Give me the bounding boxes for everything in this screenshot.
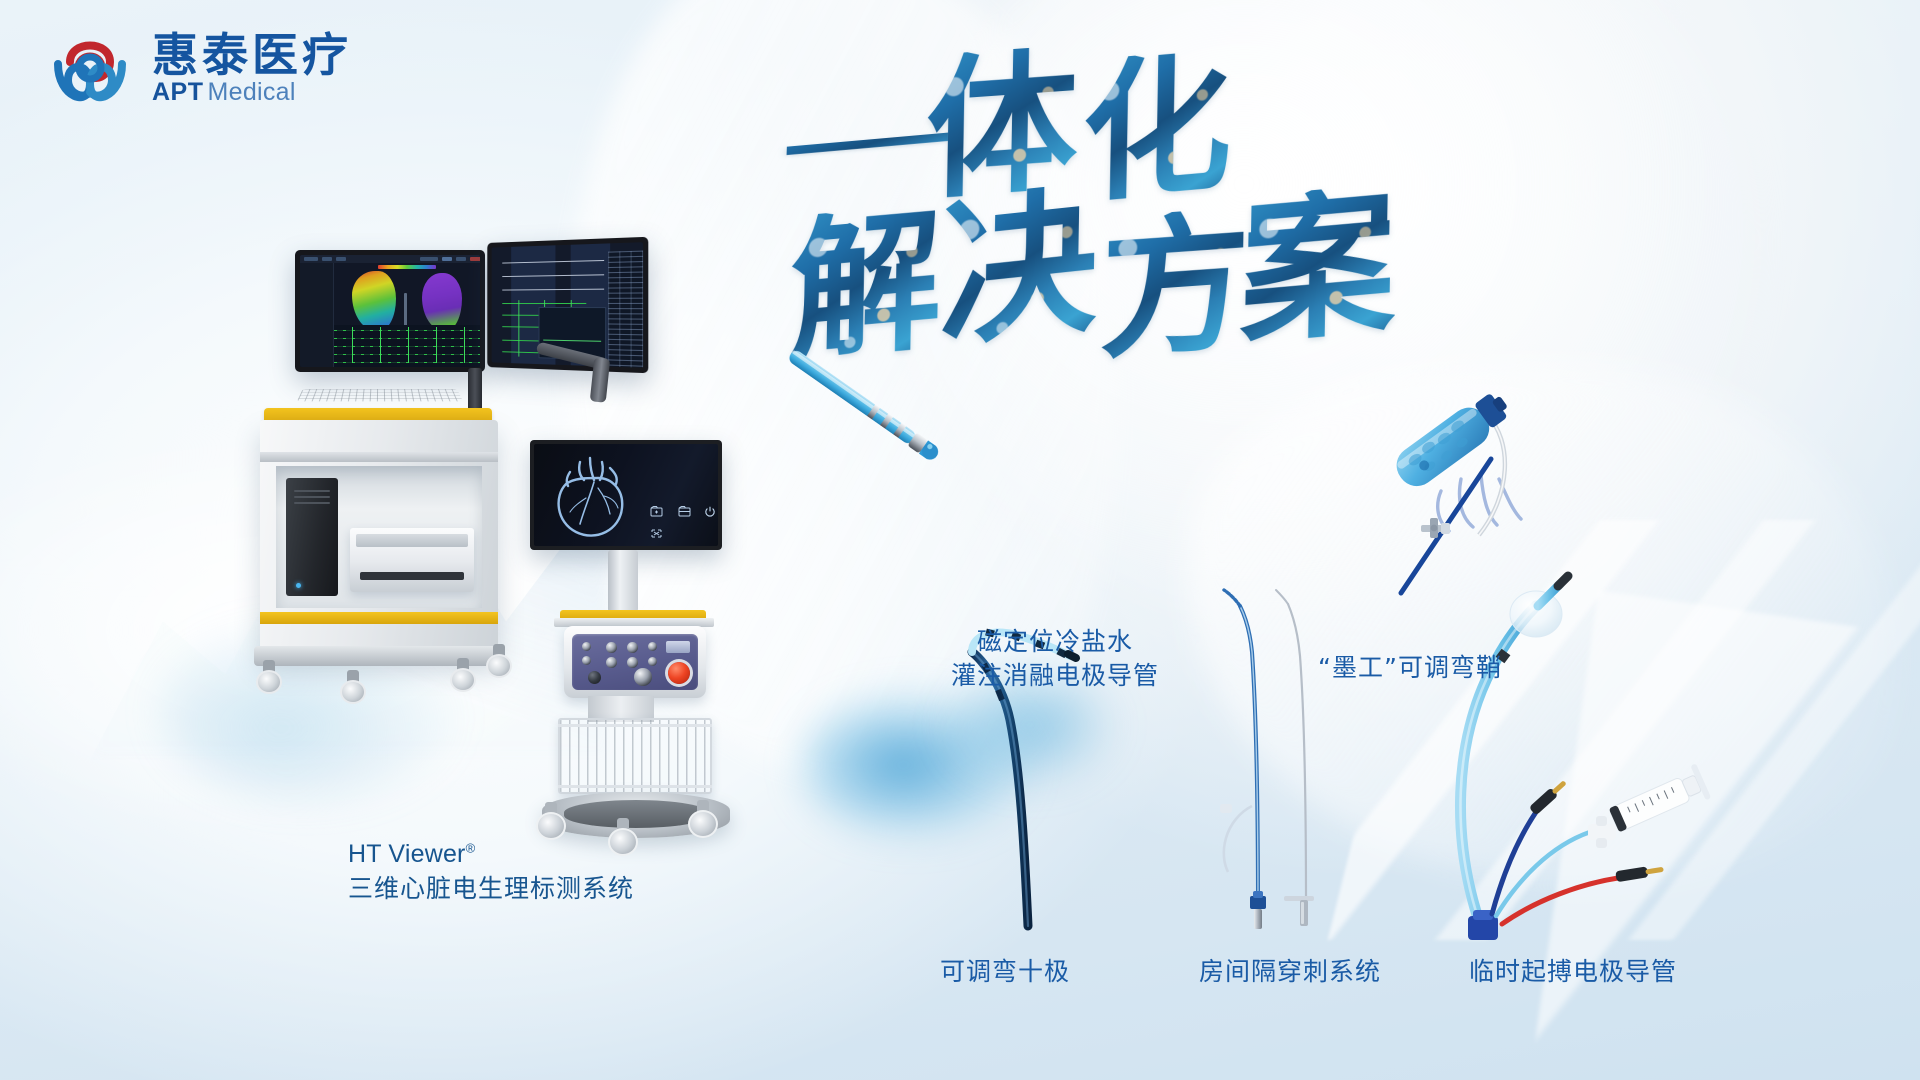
decapolar-catheter-label: 可调弯十极 xyxy=(940,955,1070,989)
cart-caster xyxy=(688,800,718,838)
open-case-icon[interactable] xyxy=(678,506,691,517)
label-line-2: 灌注消融电极导管 xyxy=(951,659,1159,693)
irrigated-ablation-catheter-image xyxy=(800,355,970,485)
heart-display-monitor xyxy=(530,440,722,550)
measurement-table xyxy=(608,251,643,368)
headline-char-3: 化 xyxy=(1081,47,1233,211)
irrigated-ablation-catheter-label: 磁定位冷盐水 灌注消融电极导管 xyxy=(951,625,1159,692)
headline-char-7: 案 xyxy=(1239,183,1397,353)
transseptal-puncture-system-label: 房间隔穿刺系统 xyxy=(1199,955,1381,989)
cart-caster xyxy=(256,660,282,694)
brand-logo: 惠泰医疗 APT Medical xyxy=(44,22,352,114)
brand-name-en-bold: APT xyxy=(152,80,204,105)
mesh-tool-icon[interactable] xyxy=(650,528,663,539)
emergency-stop-button[interactable] xyxy=(668,662,690,684)
intracardiac-trace-pane xyxy=(334,325,480,367)
headline-char-4: 解 xyxy=(789,203,943,369)
cart-caster xyxy=(486,644,512,678)
apt-medical-logo-icon xyxy=(44,22,136,114)
workstation-printer xyxy=(350,528,474,592)
accessory-basket xyxy=(558,718,712,794)
display-console-cart xyxy=(530,440,800,860)
temporary-pacing-catheter-image xyxy=(1440,540,1720,940)
headline-char-6: 方 xyxy=(1099,206,1251,367)
brand-name-en-light: Medical xyxy=(208,80,296,105)
ht-viewer-name-en: HT Viewer® xyxy=(348,838,634,872)
transseptal-puncture-system-image xyxy=(1200,560,1330,940)
temporary-pacing-catheter-label: 临时起搏电极导管 xyxy=(1469,955,1677,989)
label-line-1: “墨工”可调弯鞘 xyxy=(1318,651,1502,685)
label-line-1: 房间隔穿刺系统 xyxy=(1199,955,1381,989)
brand-name-en: APT Medical xyxy=(152,80,352,105)
rf-generator-console[interactable] xyxy=(564,626,706,698)
steerable-sheath-label: “墨工”可调弯鞘 xyxy=(1318,651,1502,685)
brand-name-cn: 惠泰医疗 xyxy=(152,32,352,78)
label-line-1: 临时起搏电极导管 xyxy=(1469,955,1677,989)
headline-char-5: 决 xyxy=(939,181,1099,357)
mapping-monitor-screen xyxy=(300,255,480,367)
heart-display-screen xyxy=(534,444,718,546)
ht-viewer-name-cn: 三维心脏电生理标测系统 xyxy=(348,872,634,906)
marketing-poster: 惠泰医疗 APT Medical 一 体 化 解 决 方 案 xyxy=(0,0,1920,1080)
label-line-1: 磁定位冷盐水 xyxy=(951,625,1159,659)
power-icon[interactable] xyxy=(704,506,716,518)
cart-caster xyxy=(340,670,366,704)
mapping-monitor xyxy=(295,250,485,372)
new-case-icon[interactable] xyxy=(650,506,663,517)
workstation-keyboard[interactable] xyxy=(297,389,463,401)
ht-viewer-label: HT Viewer® 三维心脏电生理标测系统 xyxy=(348,838,634,905)
headline-calligraphy: 一 体 化 解 决 方 案 xyxy=(800,40,1360,340)
cart-caster xyxy=(536,802,566,840)
workstation-computer xyxy=(286,478,338,596)
heart-anatomy-icon xyxy=(546,452,638,540)
voltage-map-mesh xyxy=(422,273,462,331)
cart-caster xyxy=(450,658,476,692)
label-line-1: 可调弯十极 xyxy=(940,955,1070,989)
activation-map-mesh xyxy=(352,271,396,331)
